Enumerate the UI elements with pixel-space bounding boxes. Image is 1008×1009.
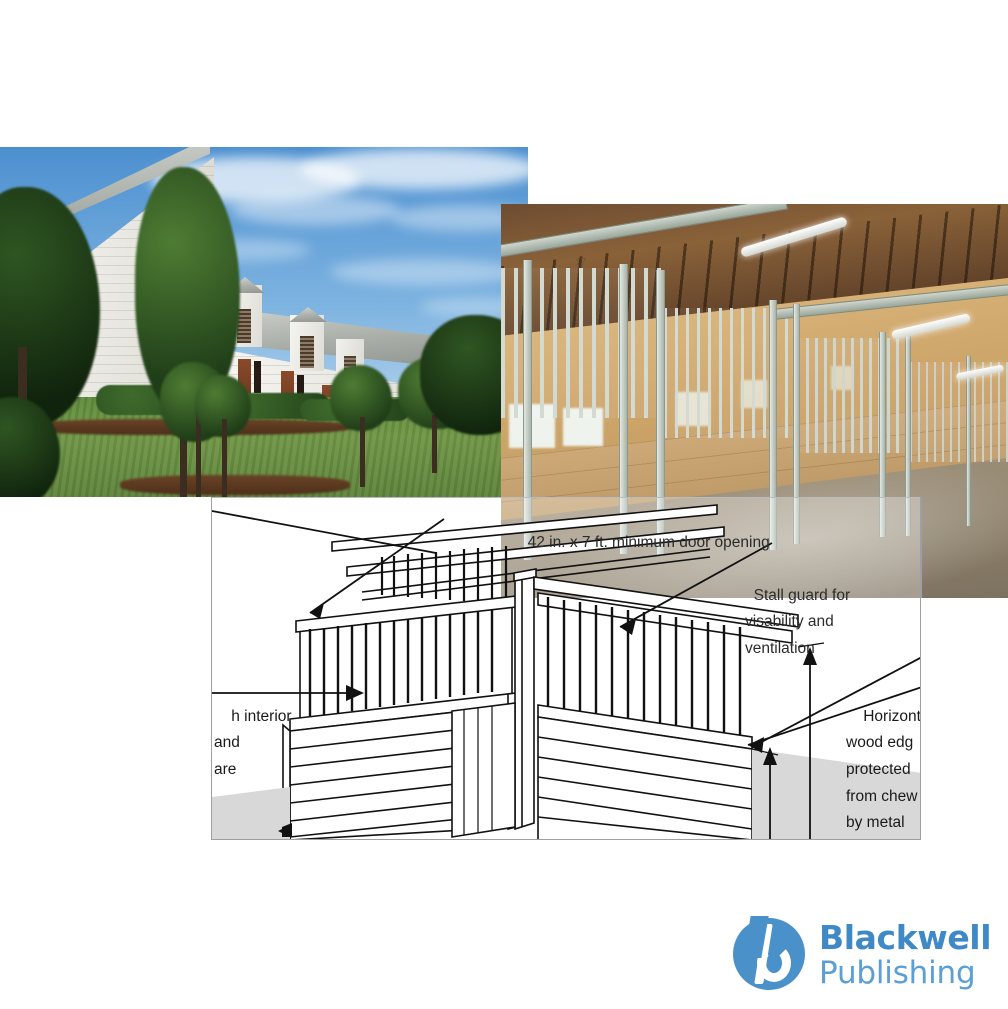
barn-window: [254, 361, 261, 393]
stall-post: [966, 356, 971, 526]
stall-bars: [797, 338, 907, 453]
annotation-smooth-interior: h interior and are: [214, 677, 292, 810]
diagram-right-border-upper: [921, 497, 922, 598]
stall-number-label: 17: [575, 256, 586, 268]
cloud: [300, 149, 528, 189]
annotation-stall-guard-text: Stall guard for visability and ventilati…: [745, 587, 850, 657]
blackwell-b-roundel-icon: [733, 918, 805, 990]
annotation-door-opening: 42 in. x 7 ft. minimum door opening: [519, 503, 770, 556]
dormer-louver: [300, 336, 314, 367]
annotation-horizontal-wood-edges: Horizonta wood edg protected from chew b…: [846, 677, 921, 840]
logo-line-1: Blackwell: [819, 920, 991, 956]
logo-wordmark: Blackwell Publishing: [819, 920, 991, 990]
blackwell-publishing-logo: Blackwell Publishing: [733, 918, 973, 994]
cloud: [230, 195, 400, 225]
mulch-bed: [120, 475, 350, 495]
tree-trunk: [222, 419, 227, 497]
annotation-smooth-interior-text: h interior and are: [214, 708, 292, 778]
tree-trunk: [432, 415, 437, 473]
barn-exterior-photo: [0, 147, 528, 497]
logo-line-2: Publishing: [819, 956, 991, 991]
annotation-horizontal-wood-edges-text: Horizonta wood edg protected from chew b…: [846, 708, 921, 832]
annotation-door-opening-text: 42 in. x 7 ft. minimum door opening: [528, 534, 770, 551]
tree-trunk: [360, 417, 365, 487]
annotation-stall-guard: Stall guard for visability and ventilati…: [745, 556, 850, 663]
barn-dormer: [290, 315, 324, 371]
cloud: [330, 259, 520, 285]
